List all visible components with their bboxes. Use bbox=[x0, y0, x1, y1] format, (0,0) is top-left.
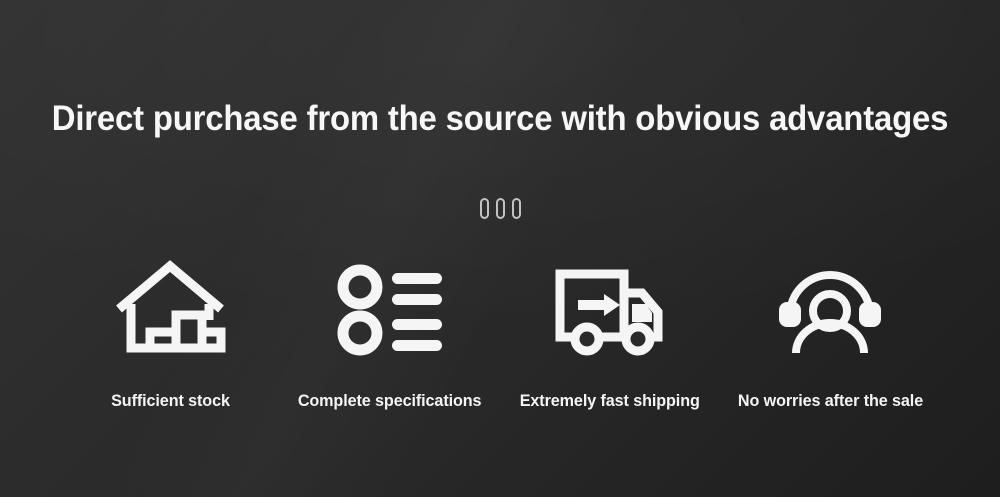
feature-item-extremely-fast-shipping: Extremely fast shipping bbox=[500, 258, 720, 411]
feature-label: Sufficient stock bbox=[111, 391, 230, 411]
specification-list-icon bbox=[334, 258, 446, 358]
headset-support-agent-icon bbox=[774, 258, 886, 358]
divider-pill-3-icon bbox=[512, 198, 521, 219]
divider-pill-2-icon bbox=[496, 198, 505, 219]
divider-pill-1-icon bbox=[480, 198, 489, 219]
feature-label: No worries after the sale bbox=[737, 391, 922, 411]
feature-item-complete-specifications: Complete specifications bbox=[280, 258, 500, 411]
feature-label: Complete specifications bbox=[298, 391, 482, 411]
feature-list: Sufficient stock Complete specifications bbox=[60, 258, 940, 411]
feature-item-no-worries-after-the-sale: No worries after the sale bbox=[720, 258, 940, 411]
page-title: Direct purchase from the source with obv… bbox=[30, 98, 970, 140]
decorative-divider bbox=[0, 198, 1000, 219]
feature-label: Extremely fast shipping bbox=[520, 391, 700, 411]
banner-content: Direct purchase from the source with obv… bbox=[0, 0, 1000, 497]
promo-banner: Direct purchase from the source with obv… bbox=[0, 0, 1000, 497]
warehouse-boxes-icon bbox=[114, 258, 226, 358]
feature-item-sufficient-stock: Sufficient stock bbox=[60, 258, 280, 411]
delivery-truck-icon bbox=[554, 258, 666, 358]
